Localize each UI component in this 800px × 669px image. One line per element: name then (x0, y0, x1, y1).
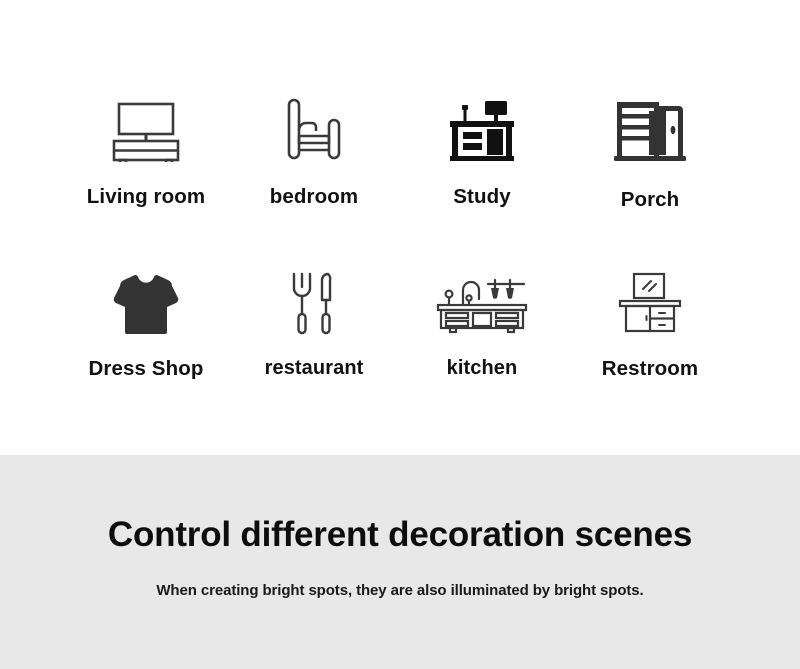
tshirt-icon (100, 268, 192, 340)
scene-grid: Living room bedroom (0, 0, 800, 455)
scene-row-2: Dress Shop (0, 268, 800, 381)
kitchen-counter-icon (436, 268, 528, 340)
bed-icon (268, 95, 360, 167)
scene-item-porch[interactable]: Porch (566, 95, 734, 212)
scene-label: Study (453, 185, 510, 209)
scene-label: kitchen (447, 357, 518, 380)
scene-item-dress-shop[interactable]: Dress Shop (62, 268, 230, 381)
scene-label: Living room (87, 185, 205, 209)
desk-monitor-icon (436, 95, 528, 167)
scene-label: bedroom (270, 185, 358, 209)
promo-banner: Control different decoration scenes When… (0, 455, 800, 669)
banner-title: Control different decoration scenes (0, 515, 800, 555)
banner-subtitle: When creating bright spots, they are als… (0, 582, 800, 599)
scene-item-restroom[interactable]: Restroom (566, 268, 734, 381)
scene-item-living-room[interactable]: Living room (62, 95, 230, 209)
scene-item-kitchen[interactable]: kitchen (398, 268, 566, 380)
scene-label: Restroom (602, 357, 698, 381)
scene-label: Porch (621, 188, 680, 212)
scene-row-1: Living room bedroom (0, 95, 800, 212)
scene-item-study[interactable]: Study (398, 95, 566, 209)
fork-knife-icon (268, 268, 360, 340)
scene-item-restaurant[interactable]: restaurant (230, 268, 398, 380)
scene-label: Dress Shop (89, 357, 204, 381)
scene-item-bedroom[interactable]: bedroom (230, 95, 398, 209)
scene-label: restaurant (265, 357, 364, 380)
vanity-mirror-icon (604, 268, 696, 340)
promo-page: Living room bedroom (0, 0, 800, 669)
tv-stand-icon (100, 95, 192, 167)
shoe-cabinet-door-icon (604, 95, 696, 167)
